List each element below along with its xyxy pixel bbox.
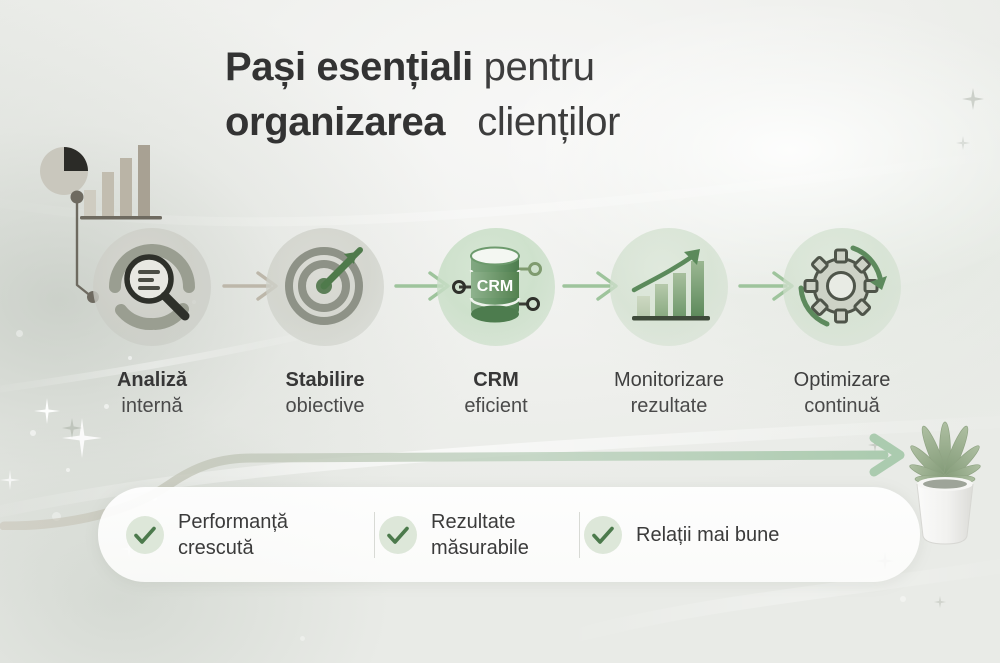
- step-crm-eficient[interactable]: CRM CRM eficient: [422, 228, 570, 419]
- magnifier-document-icon: [93, 228, 211, 346]
- benefit-label-line1: Relații mai bune: [636, 524, 779, 546]
- step-icon-circle: [783, 228, 901, 346]
- step-optimizare-continua[interactable]: Optimizare continuă: [768, 228, 916, 419]
- sparkle-icon: [962, 88, 984, 110]
- step-label-line1: CRM: [422, 368, 570, 394]
- step-icon-circle: [610, 228, 728, 346]
- bar-chart-growth-arrow-icon: [610, 228, 728, 346]
- page-title: Pași esențiali pentru organizarea clienț…: [225, 40, 785, 150]
- step-label-line1: Monitorizare: [595, 368, 743, 394]
- check-icon: [584, 516, 622, 554]
- title-regular-1: pentru: [484, 45, 595, 89]
- title-bold-1: Pași esențiali: [225, 45, 473, 89]
- benefit-label-line1: Performanță: [178, 511, 288, 533]
- title-bold-2: organizarea: [225, 100, 445, 144]
- step-stabilire-obiective[interactable]: Stabilire obiective: [251, 228, 399, 419]
- step-icon-circle: [266, 228, 384, 346]
- step-label-line1: Analiză: [78, 368, 226, 394]
- gear-refresh-icon: [783, 228, 901, 346]
- sparkle-icon: [934, 596, 946, 608]
- step-label-line1: Optimizare: [768, 368, 916, 394]
- benefit-item[interactable]: Performanță crescută: [122, 509, 374, 561]
- page-title-line-1: Pași esențiali pentru: [225, 40, 785, 95]
- infographic-canvas: Pași esențiali pentru organizarea clienț…: [0, 0, 1000, 663]
- crm-database-icon: CRM: [437, 228, 555, 346]
- step-icon-circle: CRM: [437, 228, 555, 346]
- check-icon: [126, 516, 164, 554]
- step-analiza-interna[interactable]: Analiză internă: [78, 228, 226, 419]
- benefit-label-line2: măsurabile: [431, 537, 529, 559]
- crm-icon-text: CRM: [477, 278, 513, 295]
- step-label-line1: Stabilire: [251, 368, 399, 394]
- benefit-label: Relații mai bune: [636, 522, 779, 548]
- benefit-label-line2: crescută: [178, 537, 254, 559]
- step-icon-circle: [93, 228, 211, 346]
- benefit-label: Performanță crescută: [178, 509, 288, 561]
- pie-chart-icon: [40, 147, 88, 195]
- target-arrow-icon: [266, 228, 384, 346]
- process-steps: Analiză internă: [0, 228, 1000, 428]
- benefit-item[interactable]: Rezultate măsurabile: [375, 509, 579, 561]
- benefits-card: Performanță crescută Rezultate măsurabil…: [98, 487, 920, 582]
- bar-chart-icon: [80, 145, 162, 220]
- check-icon: [379, 516, 417, 554]
- benefit-item[interactable]: Relații mai bune: [580, 516, 830, 554]
- sparkle-icon: [956, 136, 970, 150]
- step-monitorizare-rezultate[interactable]: Monitorizare rezultate: [595, 228, 743, 419]
- page-title-line-2: organizarea clienților: [225, 95, 785, 150]
- benefit-label-line1: Rezultate: [431, 511, 516, 533]
- benefit-label: Rezultate măsurabile: [431, 509, 529, 561]
- potted-succulent-plant: [893, 418, 997, 546]
- title-regular-2: clienților: [477, 100, 620, 144]
